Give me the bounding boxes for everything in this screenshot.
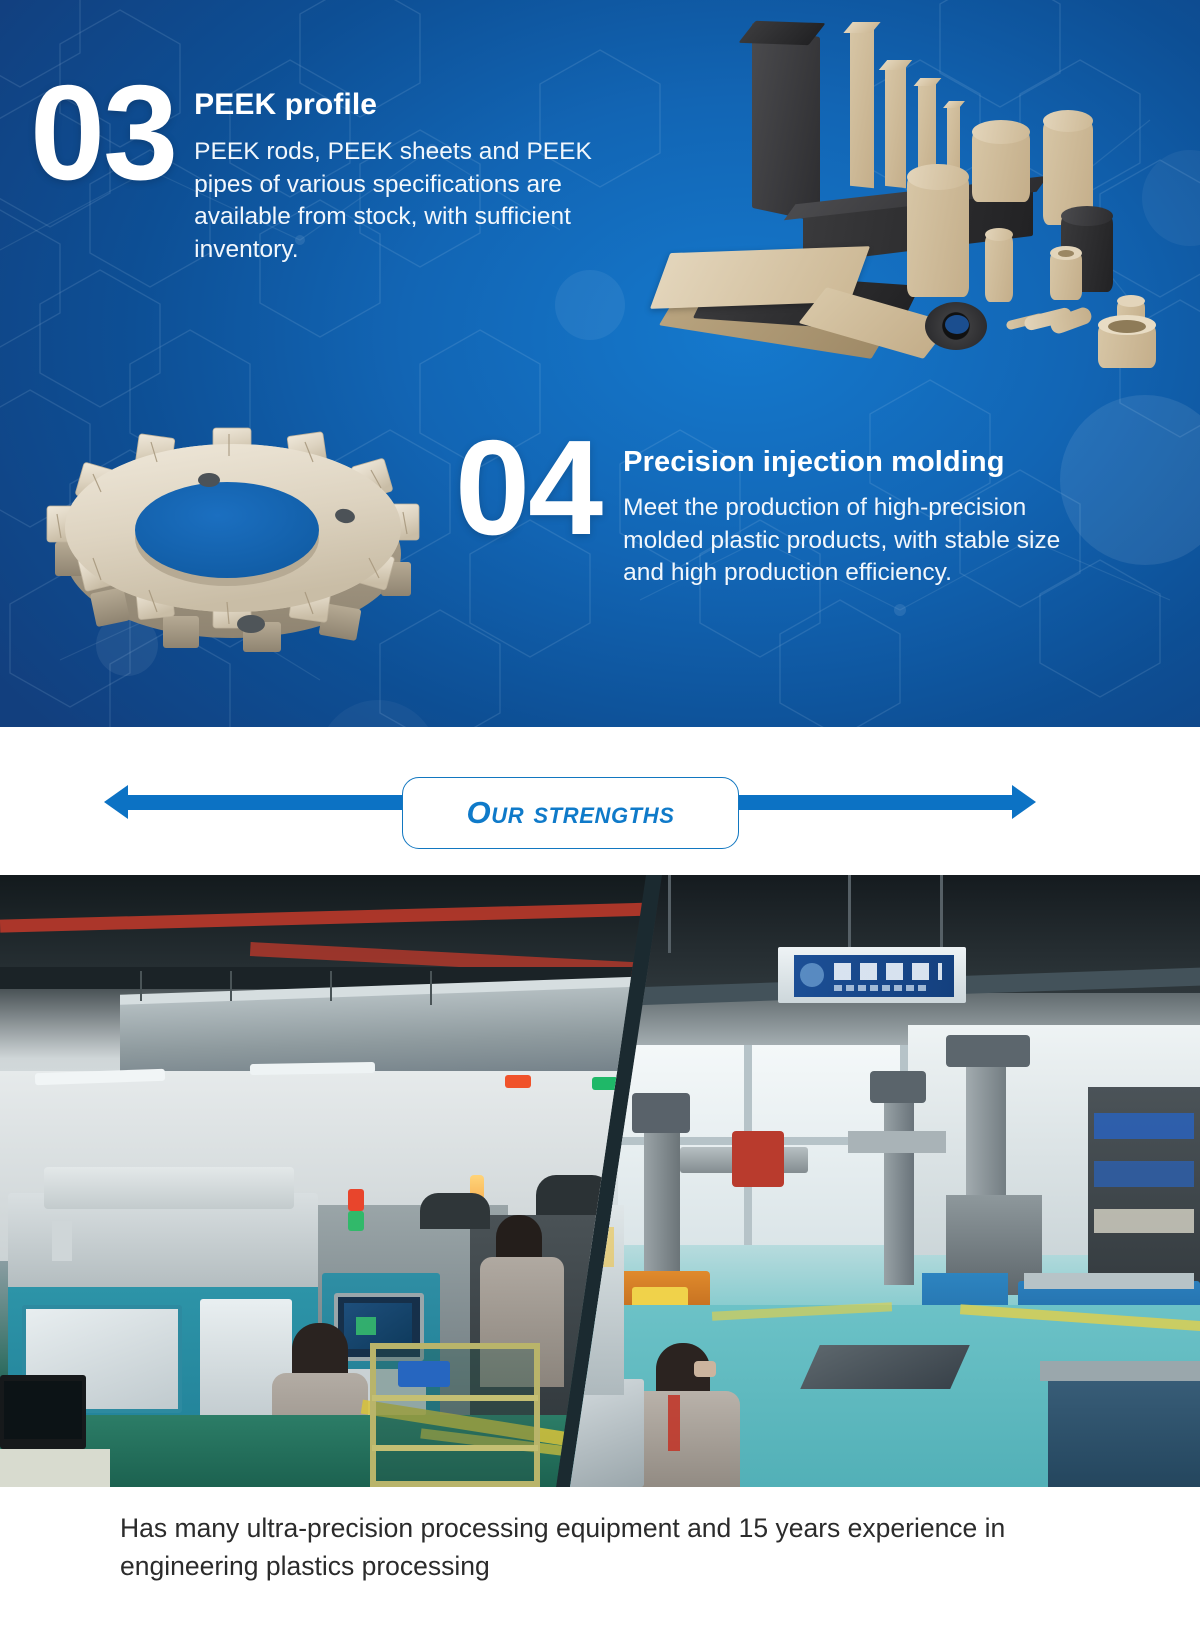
arrow-right-line [722,795,1014,810]
strengths-title: Our strengths [467,795,675,831]
feature-title-03: PEEK profile [194,88,624,122]
feature-number-04: 04 [455,430,601,546]
feature-number-03: 03 [30,75,176,191]
feature-description-04: Meet the production of high-precision mo… [623,492,1093,590]
feature-block-04: 04 Precision injection molding Meet the … [455,430,1093,590]
strengths-title-box: Our strengths [402,777,739,849]
feature-block-03: 03 PEEK profile PEEK rods, PEEK sheets a… [30,75,624,267]
hero-panel: 03 PEEK profile PEEK rods, PEEK sheets a… [0,0,1200,727]
molded-gear-ring-photo [35,388,430,668]
feature-description-03: PEEK rods, PEEK sheets and PEEK pipes of… [194,136,624,267]
feature-title-04: Precision injection molding [623,446,1093,479]
mold-workshop-photo [548,875,1200,1487]
caption-block: Has many ultra-precision processing equi… [0,1492,1200,1638]
arrow-right-icon [1012,785,1036,819]
bokeh-circle [318,700,438,727]
workshop-photo-strip [0,875,1200,1487]
bokeh-circle [555,270,625,340]
cnc-machining-workshop-photo [0,875,660,1487]
arrow-left-line [125,795,425,810]
peek-profiles-photo [620,12,1185,372]
caption-text: Has many ultra-precision processing equi… [120,1510,1080,1585]
